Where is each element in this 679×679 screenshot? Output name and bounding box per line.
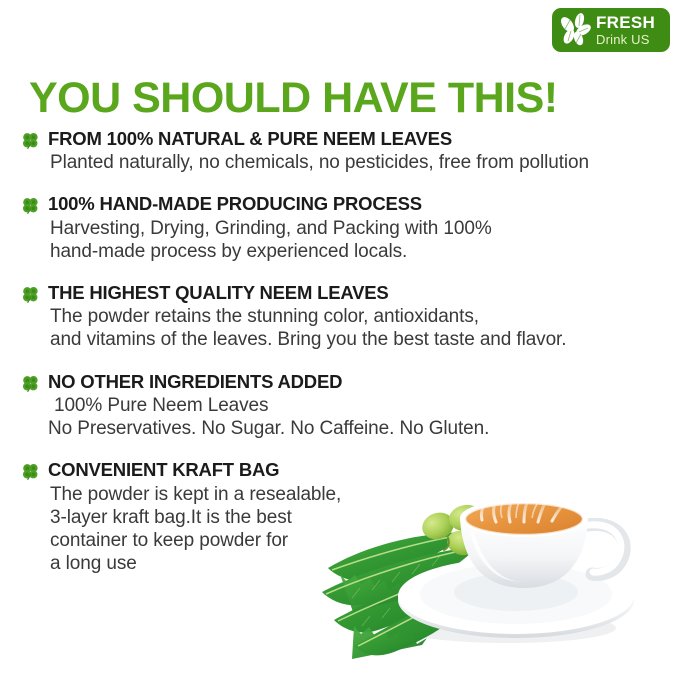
brand-name: FRESH xyxy=(596,14,655,31)
feature-line: The powder retains the stunning color, a… xyxy=(50,305,673,328)
feature-title: NO OTHER INGREDIENTS ADDED xyxy=(48,371,673,392)
feature-body: Planted naturally, no chemicals, no pest… xyxy=(50,151,673,174)
feature-title: CONVENIENT KRAFT BAG xyxy=(48,459,673,480)
feature-body: Harvesting, Drying, Grinding, and Packin… xyxy=(50,217,673,263)
feature-line: and vitamins of the leaves. Bring you th… xyxy=(50,328,673,351)
feature-body: The powder retains the stunning color, a… xyxy=(50,305,673,351)
list-item: FROM 100% NATURAL & PURE NEEM LEAVES Pla… xyxy=(18,128,673,174)
brand-logo-badge: FRESH Drink US xyxy=(552,8,670,52)
feature-line: 3-layer kraft bag.It is the best xyxy=(50,506,350,529)
clover-icon xyxy=(21,131,40,150)
feature-line: No Preservatives. No Sugar. No Caffeine.… xyxy=(48,417,673,440)
clover-icon xyxy=(21,285,40,304)
feature-list: FROM 100% NATURAL & PURE NEEM LEAVES Pla… xyxy=(18,128,673,594)
list-item: 100% HAND-MADE PRODUCING PROCESS Harvest… xyxy=(18,193,673,263)
feature-body: 100% Pure Neem Leaves No Preservatives. … xyxy=(54,394,673,440)
feature-line: Harvesting, Drying, Grinding, and Packin… xyxy=(50,217,673,240)
clover-icon xyxy=(21,462,40,481)
feature-line: The powder is kept in a resealable, xyxy=(50,483,350,506)
promo-graphic: FRESH Drink US YOU SHOULD HAVE THIS! xyxy=(0,0,679,679)
list-item: CONVENIENT KRAFT BAG The powder is kept … xyxy=(18,459,673,575)
feature-line: a long use xyxy=(50,552,350,575)
feature-line: container to keep powder for xyxy=(50,529,350,552)
leaf-cluster-icon xyxy=(555,10,595,50)
feature-title: THE HIGHEST QUALITY NEEM LEAVES xyxy=(48,282,673,303)
feature-title: FROM 100% NATURAL & PURE NEEM LEAVES xyxy=(48,128,673,149)
feature-line: hand-made process by experienced locals. xyxy=(50,240,673,263)
list-item: THE HIGHEST QUALITY NEEM LEAVES The powd… xyxy=(18,282,673,352)
clover-icon xyxy=(21,196,40,215)
page-title: YOU SHOULD HAVE THIS! xyxy=(29,74,558,123)
list-item: NO OTHER INGREDIENTS ADDED 100% Pure Nee… xyxy=(18,371,673,441)
clover-icon xyxy=(21,374,40,393)
feature-title: 100% HAND-MADE PRODUCING PROCESS xyxy=(48,193,673,214)
feature-line: Planted naturally, no chemicals, no pest… xyxy=(50,151,673,174)
brand-tagline: Drink US xyxy=(596,33,655,46)
feature-body: The powder is kept in a resealable, 3-la… xyxy=(50,483,673,576)
brand-logo-text: FRESH Drink US xyxy=(596,14,655,46)
feature-line: 100% Pure Neem Leaves xyxy=(54,394,673,417)
